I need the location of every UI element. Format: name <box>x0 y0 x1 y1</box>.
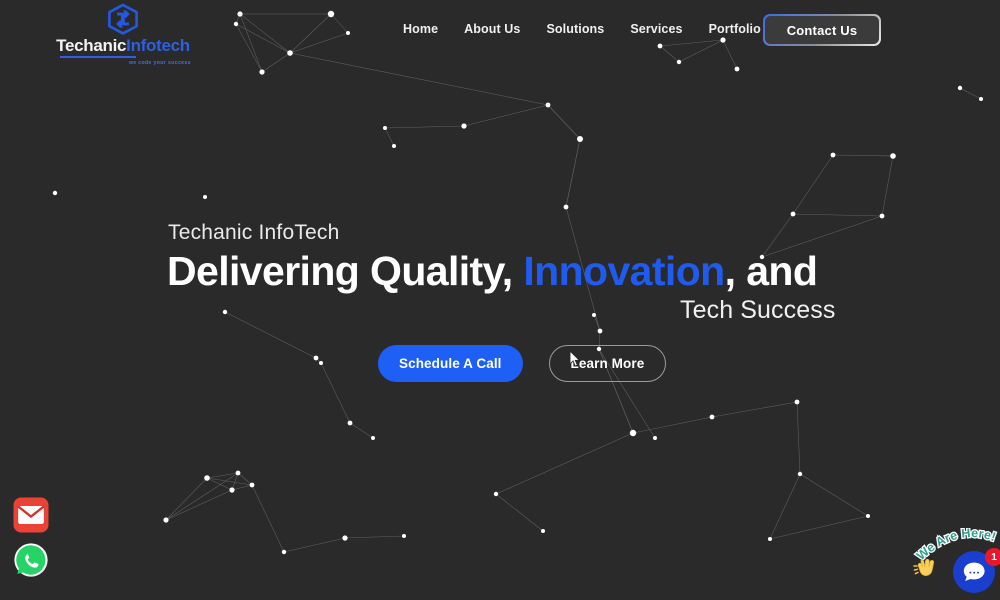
chat-widget: We Are Here! 1 <box>912 528 1000 600</box>
hero-cta-row: Schedule A Call Learn More <box>378 345 666 382</box>
whatsapp-icon[interactable] <box>12 541 50 579</box>
hero-section: Techanic InfoTech Delivering Quality, In… <box>0 0 1000 600</box>
chat-bubble-icon <box>962 561 986 583</box>
site-header: TechanicInfotech we code your success Ho… <box>0 0 1000 62</box>
contact-us-button[interactable]: Contact Us <box>763 14 881 46</box>
logo-underline <box>60 56 136 58</box>
site-logo[interactable]: TechanicInfotech we code your success <box>62 2 184 60</box>
hexagon-cube-arrows-icon <box>103 2 143 36</box>
hero-headline: Delivering Quality, Innovation, and <box>167 249 817 293</box>
nav-item-services[interactable]: Services <box>617 22 695 36</box>
nav-item-about-us[interactable]: About Us <box>451 22 533 36</box>
hero-headline-before: Delivering Quality, <box>167 248 523 294</box>
hero-eyebrow: Techanic InfoTech <box>168 221 340 245</box>
contact-us-button-label: Contact Us <box>765 16 880 45</box>
hero-headline-accent: Innovation <box>523 248 724 294</box>
hero-headline-after: , and <box>725 248 818 294</box>
gmail-icon[interactable] <box>12 496 50 534</box>
logo-word-part2: Infotech <box>126 36 190 55</box>
floating-social-buttons <box>12 496 50 579</box>
nav-item-solutions[interactable]: Solutions <box>534 22 618 36</box>
hero-headline-line2: Tech Success <box>680 296 835 325</box>
nav-item-home[interactable]: Home <box>390 22 451 36</box>
logo-word-part1: Techanic <box>56 36 126 55</box>
logo-tagline: we code your success <box>129 54 191 72</box>
waving-hand-icon <box>912 555 938 581</box>
page-root: TechanicInfotech we code your success Ho… <box>0 0 1000 600</box>
chat-unread-badge[interactable]: 1 <box>985 548 1000 566</box>
learn-more-button[interactable]: Learn More <box>549 345 667 382</box>
schedule-a-call-button[interactable]: Schedule A Call <box>378 345 523 382</box>
logo-wordmark: TechanicInfotech we code your success <box>56 37 190 55</box>
